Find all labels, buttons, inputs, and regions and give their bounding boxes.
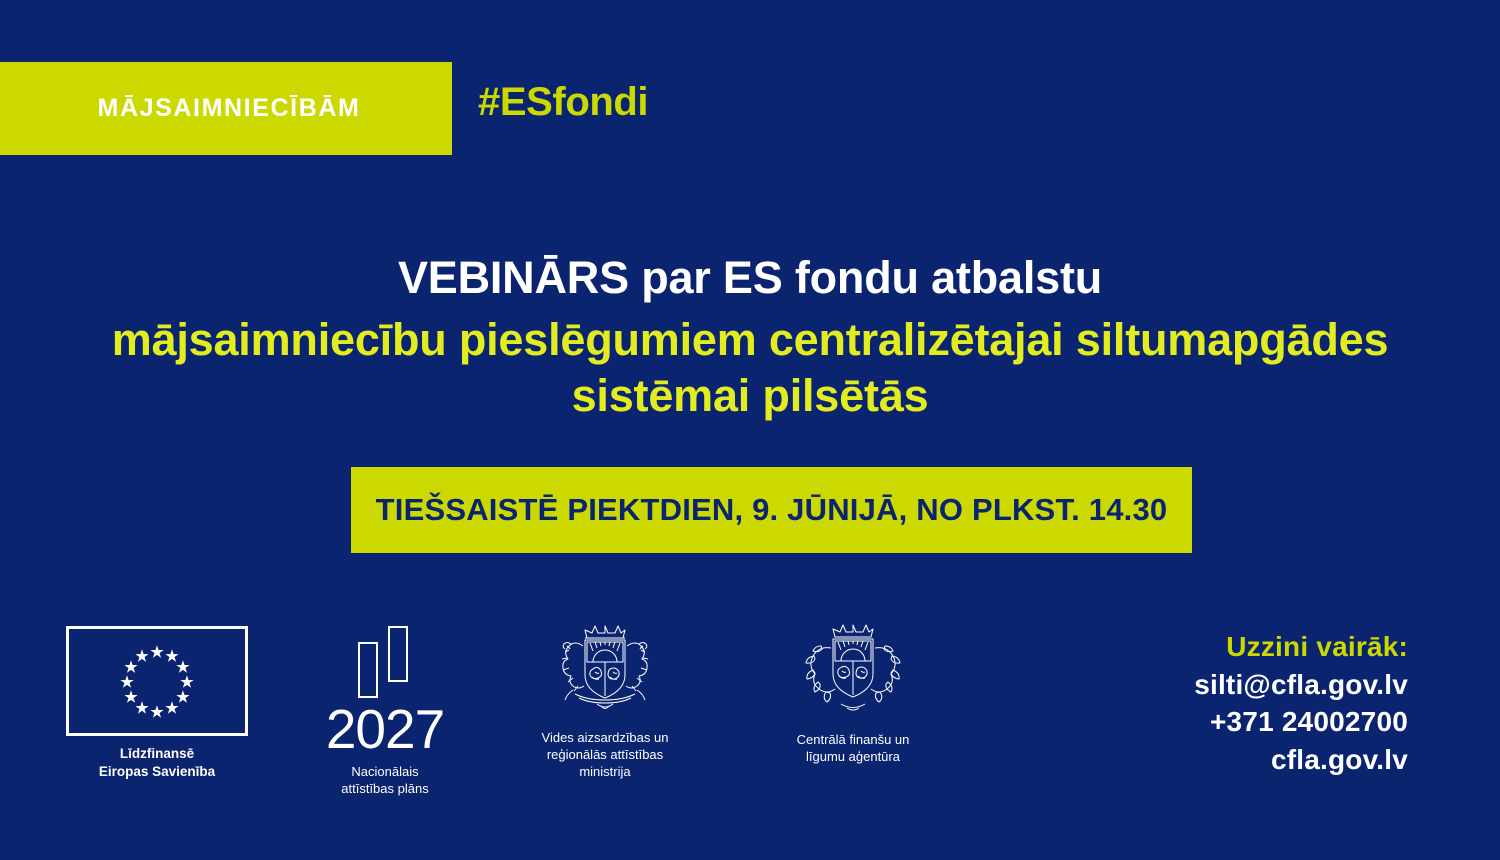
event-date-banner: TIEŠSAISTĒ PIEKTDIEN, 9. JŪNIJĀ, NO PLKS…	[351, 467, 1192, 553]
contact-website[interactable]: cfla.gov.lv	[1194, 741, 1408, 779]
eu-flag-icon	[66, 626, 248, 736]
hashtag-esfondi: #ESfondi	[478, 80, 648, 125]
logo-row: Līdzfinansē Eiropas Savienība 2027 Nacio…	[0, 620, 1180, 820]
headline-block: VEBINĀRS par ES fondu atbalstu mājsaimni…	[0, 252, 1500, 421]
poster-canvas: MĀJSAIMNIECĪBĀM #ESfondi VEBINĀRS par ES…	[0, 0, 1500, 860]
event-date-label: TIEŠSAISTĒ PIEKTDIEN, 9. JŪNIJĀ, NO PLKS…	[376, 492, 1168, 528]
headline-line-1: VEBINĀRS par ES fondu atbalstu	[0, 252, 1500, 304]
logo-nap: 2027 Nacionālais attīstības plāns	[300, 620, 470, 797]
contact-block: Uzzini vairāk: silti@cfla.gov.lv +371 24…	[1194, 628, 1408, 778]
nap-year: 2027	[300, 702, 470, 757]
audience-tag-label: MĀJSAIMNIECĪBĀM	[92, 94, 361, 123]
contact-phone[interactable]: +371 24002700	[1194, 703, 1408, 741]
logo-eu: Līdzfinansē Eiropas Savienība	[62, 620, 252, 781]
headline-line-2: mājsaimniecību pieslēgumiem centralizēta…	[0, 314, 1500, 366]
headline-line-3: sistēmai pilsētās	[0, 370, 1500, 422]
latvia-large-coat-of-arms-icon	[545, 620, 665, 718]
contact-title: Uzzini vairāk:	[1194, 628, 1408, 666]
logo-eu-caption: Līdzfinansē Eiropas Savienība	[62, 745, 252, 781]
logo-varam: Vides aizsardzības un reģionālās attīstī…	[500, 620, 710, 780]
contact-email[interactable]: silti@cfla.gov.lv	[1194, 666, 1408, 704]
nap-bars-icon	[350, 626, 420, 698]
logo-cfla: Centrālā finanšu un līgumu aģentūra	[748, 620, 958, 765]
audience-tag-banner: MĀJSAIMNIECĪBĀM	[0, 62, 452, 155]
logo-nap-caption: Nacionālais attīstības plāns	[300, 763, 470, 797]
eu-stars-icon	[69, 629, 245, 735]
logo-varam-caption: Vides aizsardzības un reģionālās attīstī…	[500, 729, 710, 780]
logo-cfla-caption: Centrālā finanšu un līgumu aģentūra	[748, 731, 958, 765]
latvia-small-coat-of-arms-icon	[793, 620, 913, 718]
nap-bar-right	[388, 626, 408, 682]
nap-bar-left	[358, 642, 378, 698]
